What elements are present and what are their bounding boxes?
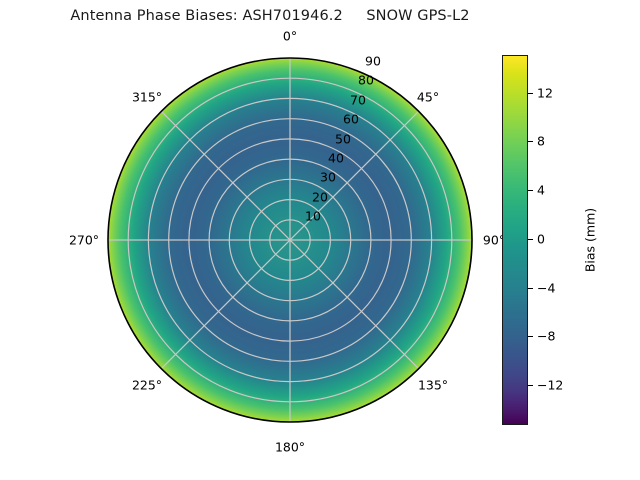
r-label-90: 90	[365, 54, 381, 69]
theta-label-270: 270°	[69, 233, 99, 248]
polar-plot-svg	[108, 58, 472, 422]
r-label-80: 80	[358, 73, 374, 88]
polar-gridlines	[108, 58, 472, 422]
colorbar-tick-0	[528, 239, 533, 240]
r-label-40: 40	[328, 151, 344, 166]
colorbar-gradient	[502, 55, 528, 425]
colorbar-tick-neg12	[528, 385, 533, 386]
r-label-10: 10	[305, 209, 321, 224]
colorbar-axis-label: Bias (mm)	[583, 208, 598, 272]
r-label-60: 60	[343, 112, 359, 127]
colorbar-label-4: 4	[537, 183, 545, 198]
theta-label-45: 45°	[417, 90, 439, 105]
colorbar-label-0: 0	[537, 232, 545, 247]
r-label-30: 30	[320, 170, 336, 185]
colorbar-tick-neg8	[528, 336, 533, 337]
theta-label-0: 0°	[283, 29, 297, 44]
theta-label-135: 135°	[418, 378, 448, 393]
colorbar-tick-8	[528, 141, 533, 142]
colorbar-label-neg12: −12	[537, 378, 563, 393]
figure-canvas: Antenna Phase Biases: ASH701946.2 SNOW G…	[0, 0, 640, 480]
r-label-20: 20	[312, 190, 328, 205]
page-title: Antenna Phase Biases: ASH701946.2 SNOW G…	[0, 8, 540, 24]
colorbar-tick-12	[528, 93, 533, 94]
colorbar-tick-neg4	[528, 288, 533, 289]
r-label-50: 50	[335, 132, 351, 147]
colorbar-label-12: 12	[537, 86, 553, 101]
colorbar: 12 8 4 0 −4 −8 −12 Bias (mm)	[502, 55, 528, 425]
colorbar-label-8: 8	[537, 134, 545, 149]
colorbar-label-neg4: −4	[537, 281, 555, 296]
polar-axes: 0° 45° 90° 135° 180° 225° 270° 315° 10 2…	[108, 58, 472, 422]
colorbar-tick-4	[528, 190, 533, 191]
theta-label-315: 315°	[132, 90, 162, 105]
theta-label-180: 180°	[275, 440, 305, 455]
theta-label-225: 225°	[132, 378, 162, 393]
r-label-70: 70	[350, 93, 366, 108]
colorbar-label-neg8: −8	[537, 329, 555, 344]
